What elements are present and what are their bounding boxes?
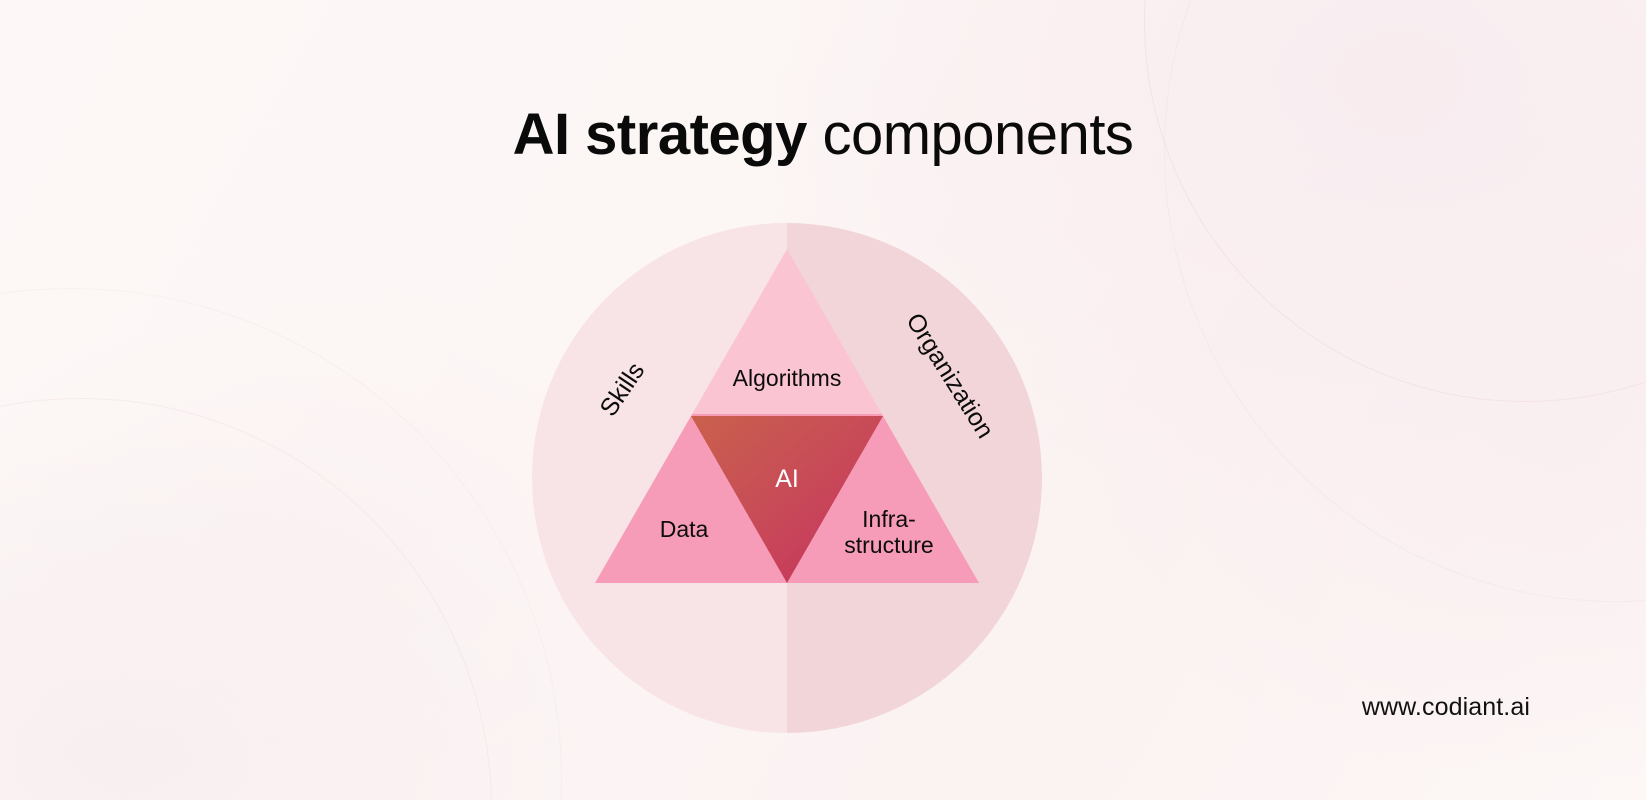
poster-canvas: AI strategy components [0, 0, 1646, 800]
background-arc-decoration [0, 398, 492, 800]
segment-label-infrastructure-line1: Infra- [862, 506, 916, 532]
segment-label-infrastructure-line2: structure [844, 532, 933, 558]
watermark-url: www.codiant.ai [1362, 693, 1530, 722]
background-arc-decoration [0, 288, 562, 800]
background-arc-decoration [1144, 0, 1646, 402]
page-title-bold-part: AI strategy [513, 102, 807, 167]
segment-label-algorithms: Algorithms [733, 365, 842, 391]
core-label-ai: AI [775, 465, 799, 493]
ai-strategy-diagram: Algorithms Data Infra- structure AI Skil… [531, 222, 1043, 734]
segment-label-data: Data [660, 516, 709, 542]
page-title-light-part: components [807, 102, 1134, 167]
background-arc-decoration [1164, 0, 1646, 602]
page-title: AI strategy components [0, 103, 1646, 167]
